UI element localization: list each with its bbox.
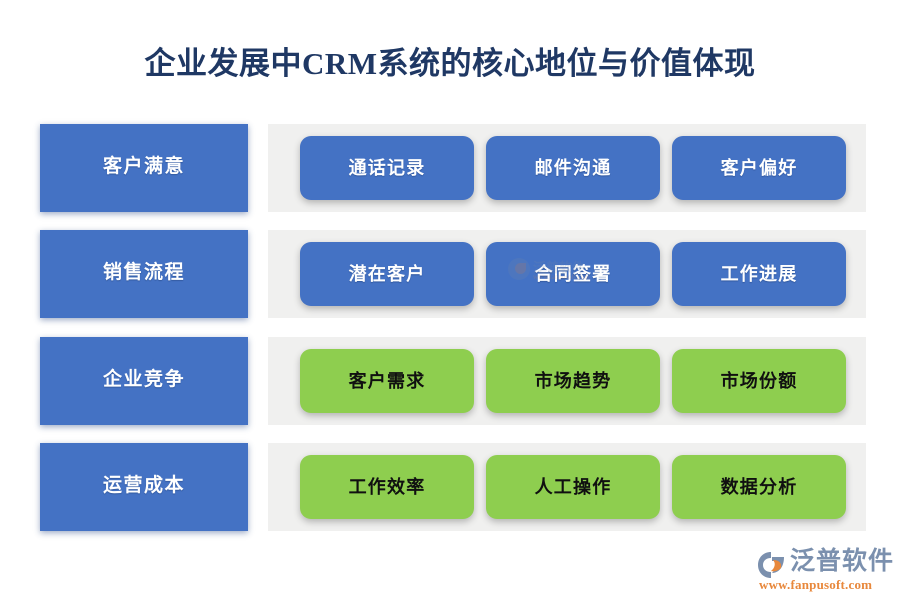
item-chip-group: 潜在客户 合同签署 工作进展 (300, 242, 846, 306)
item-chip-label: 市场份额 (721, 372, 798, 390)
logo-brand-text: 泛普软件 (790, 548, 894, 576)
category-label: 销售流程 (103, 257, 185, 284)
item-chip[interactable]: 通话记录 (300, 136, 474, 200)
item-chip[interactable]: 数据分析 (672, 455, 846, 519)
item-chip-label: 合同签署 (535, 265, 612, 283)
item-chip[interactable]: 客户需求 (300, 349, 474, 413)
diagram-row: 销售流程 潜在客户 合同签署 工作进展 (0, 230, 900, 318)
item-chip[interactable]: 市场趋势 (486, 349, 660, 413)
item-chip-group: 客户需求 市场趋势 市场份额 (300, 349, 846, 413)
item-chip[interactable]: 工作进展 (672, 242, 846, 306)
logo-url-text: www.fanpusoft.com (759, 577, 872, 592)
item-chip-group: 工作效率 人工操作 数据分析 (300, 455, 846, 519)
item-chip-label: 客户需求 (349, 372, 426, 390)
item-chip[interactable]: 市场份额 (672, 349, 846, 413)
category-label: 企业竞争 (103, 364, 185, 391)
item-chip-label: 人工操作 (535, 478, 612, 496)
item-chip[interactable]: 邮件沟通 (486, 136, 660, 200)
item-chip-label: 工作效率 (349, 478, 426, 496)
category-card-customer-satisfaction[interactable]: 客户满意 (40, 124, 248, 212)
item-chip-label: 数据分析 (721, 478, 798, 496)
item-chip-label: 工作进展 (721, 265, 798, 283)
item-chip[interactable]: 工作效率 (300, 455, 474, 519)
item-chip-label: 潜在客户 (349, 265, 426, 283)
item-band: 潜在客户 合同签署 工作进展 (268, 230, 866, 318)
item-chip-label: 邮件沟通 (535, 159, 612, 177)
item-chip-label: 市场趋势 (535, 372, 612, 390)
brand-logo: 泛普软件 www.fanpusoft.com (757, 548, 897, 594)
item-chip-group: 通话记录 邮件沟通 客户偏好 (300, 136, 846, 200)
item-band: 客户需求 市场趋势 市场份额 (268, 337, 866, 425)
category-card-operating-cost[interactable]: 运营成本 (40, 443, 248, 531)
diagram-row: 企业竞争 客户需求 市场趋势 市场份额 (0, 337, 900, 425)
category-card-enterprise-competition[interactable]: 企业竞争 (40, 337, 248, 425)
diagram-row: 运营成本 工作效率 人工操作 数据分析 (0, 443, 900, 531)
item-chip-label: 通话记录 (349, 159, 426, 177)
item-chip[interactable]: 潜在客户 (300, 242, 474, 306)
fanpu-swoosh-logo-icon (757, 551, 787, 579)
crm-value-diagram: 客户满意 通话记录 邮件沟通 客户偏好 销售流程 (0, 118, 900, 538)
item-chip[interactable]: 合同签署 (486, 242, 660, 306)
item-chip[interactable]: 客户偏好 (672, 136, 846, 200)
item-band: 通话记录 邮件沟通 客户偏好 (268, 124, 866, 212)
item-chip-label: 客户偏好 (721, 159, 798, 177)
category-card-sales-process[interactable]: 销售流程 (40, 230, 248, 318)
category-label: 运营成本 (103, 470, 185, 497)
page-title: 企业发展中CRM系统的核心地位与价值体现 (0, 44, 900, 84)
diagram-row: 客户满意 通话记录 邮件沟通 客户偏好 (0, 124, 900, 212)
item-band: 工作效率 人工操作 数据分析 (268, 443, 866, 531)
category-label: 客户满意 (103, 151, 185, 178)
item-chip[interactable]: 人工操作 (486, 455, 660, 519)
slide-canvas: 企业发展中CRM系统的核心地位与价值体现 客户满意 通话记录 邮件沟通 客户偏好 (0, 0, 900, 600)
